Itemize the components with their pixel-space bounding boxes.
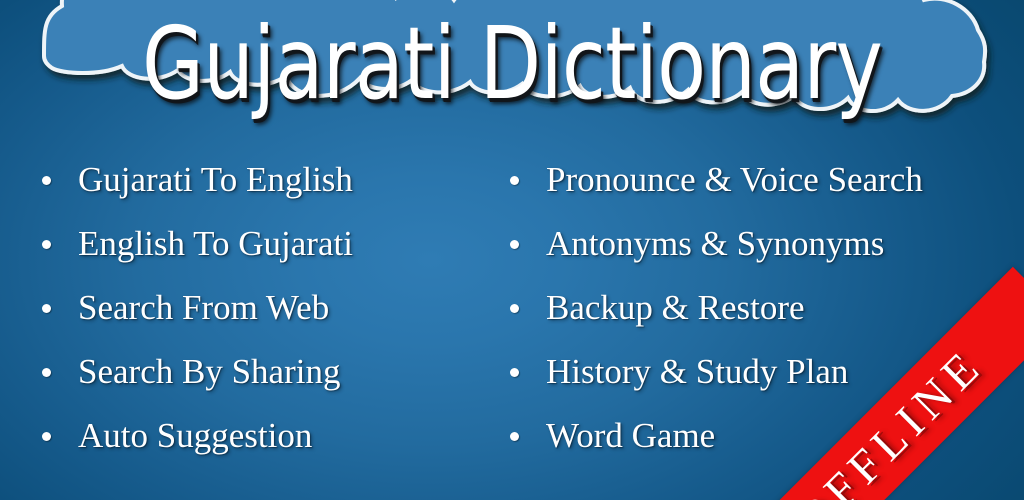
bullet-icon (510, 432, 519, 441)
feature-label: Gujarati To English (78, 160, 353, 200)
bullet-icon (42, 304, 51, 313)
feature-label: Backup & Restore (546, 288, 805, 328)
feature-label: Word Game (546, 416, 715, 456)
list-item: Search By Sharing (28, 340, 478, 404)
list-item: Gujarati To English (28, 148, 478, 212)
feature-label: Pronounce & Voice Search (546, 160, 923, 200)
bullet-icon (42, 368, 51, 377)
feature-label: History & Study Plan (546, 352, 848, 392)
list-item: Search From Web (28, 276, 478, 340)
feature-label: Auto Suggestion (78, 416, 312, 456)
app-promo-banner: Gujarati Dictionary Gujarati To English … (0, 0, 1024, 500)
feature-list-left: Gujarati To English English To Gujarati … (28, 148, 478, 478)
list-item: English To Gujarati (28, 212, 478, 276)
feature-label: Search From Web (78, 288, 329, 328)
list-item: Pronounce & Voice Search (496, 148, 996, 212)
feature-label: Antonyms & Synonyms (546, 224, 884, 264)
bullet-icon (42, 432, 51, 441)
bullet-icon (42, 176, 51, 185)
bullet-icon (42, 240, 51, 249)
page-title: Gujarati Dictionary (102, 8, 921, 120)
bullet-icon (510, 240, 519, 249)
list-item: Antonyms & Synonyms (496, 212, 996, 276)
bullet-icon (510, 368, 519, 377)
list-item: Auto Suggestion (28, 404, 478, 468)
list-item: Backup & Restore (496, 276, 996, 340)
bullet-icon (510, 176, 519, 185)
bullet-icon (510, 304, 519, 313)
feature-label: English To Gujarati (78, 224, 353, 264)
feature-label: Search By Sharing (78, 352, 340, 392)
